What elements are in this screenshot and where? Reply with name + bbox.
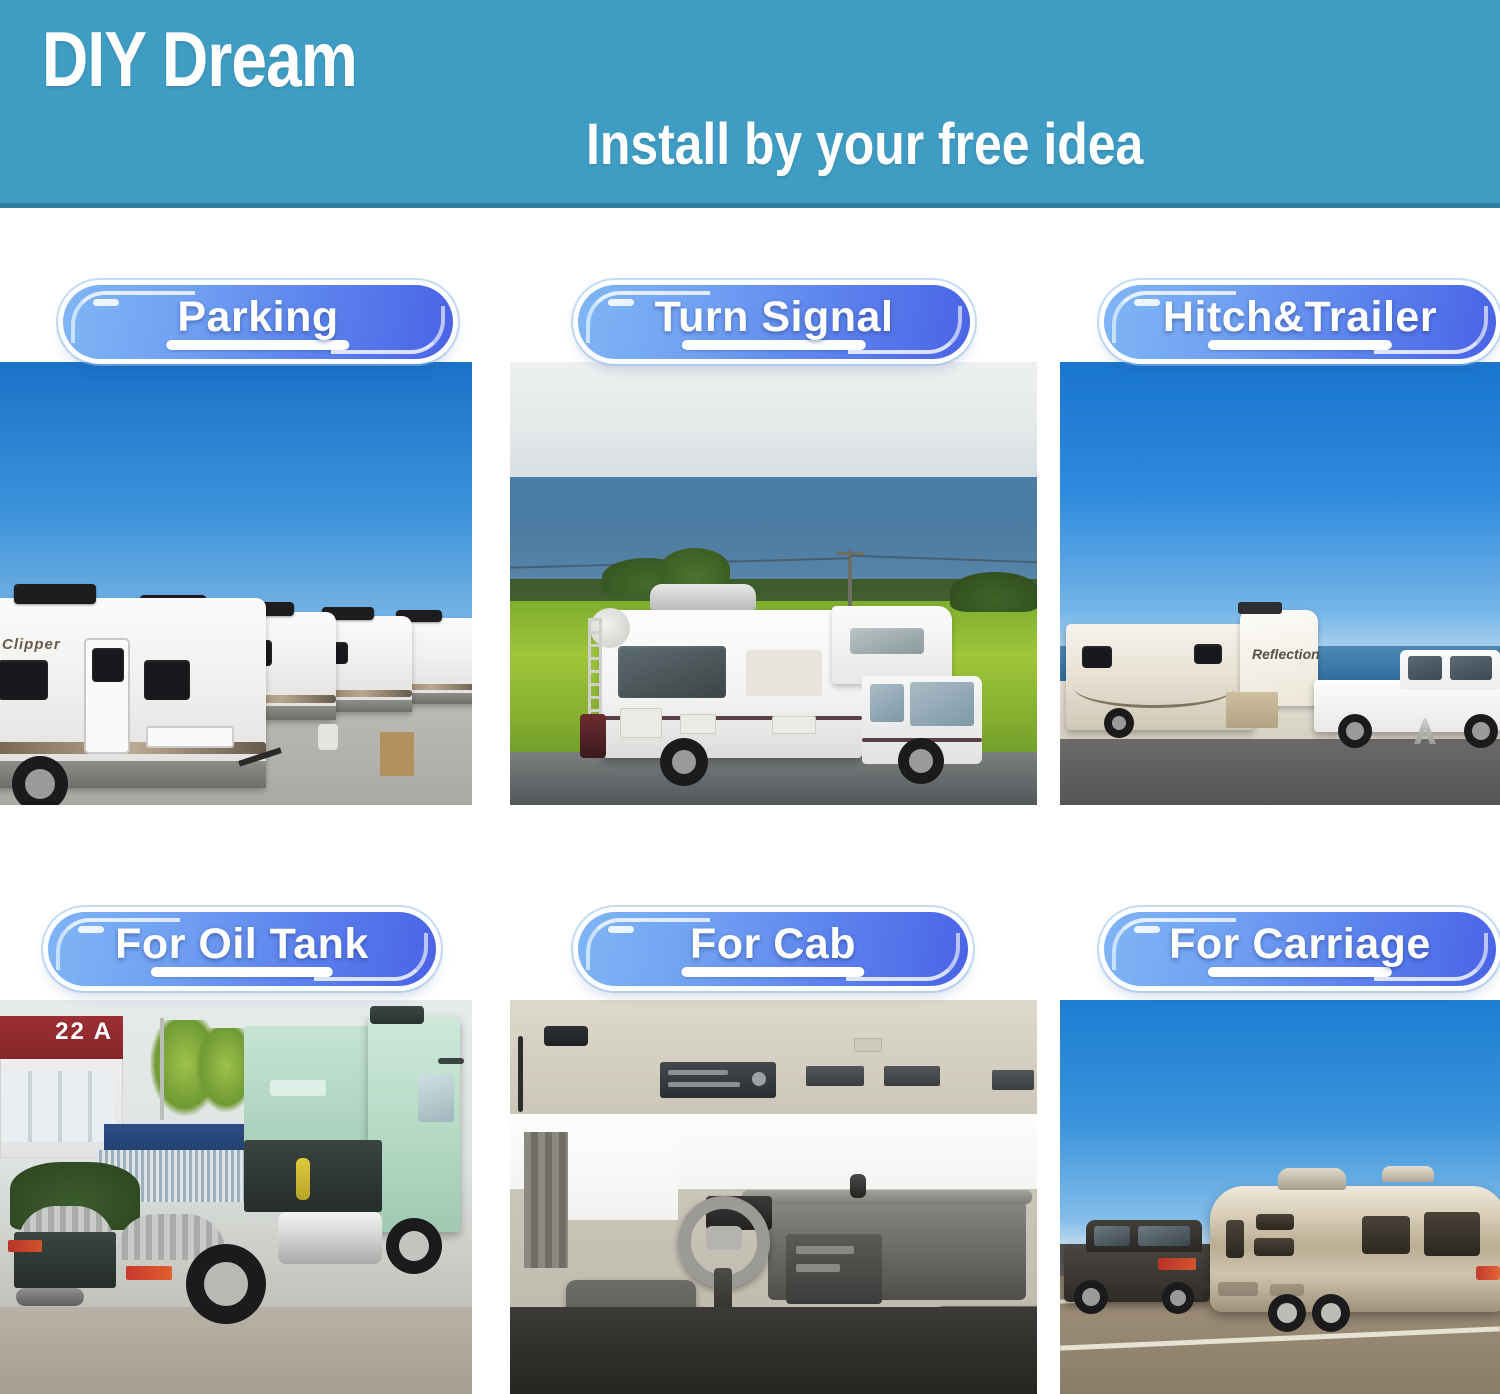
airstream-wheel bbox=[1312, 1294, 1350, 1332]
badge-label: For Carriage bbox=[1169, 920, 1431, 969]
tail-light bbox=[8, 1240, 42, 1252]
airstream-window bbox=[1254, 1238, 1294, 1256]
badge-highlight-dash bbox=[93, 299, 119, 306]
center-console bbox=[786, 1234, 882, 1304]
rooftop-ac-1 bbox=[14, 584, 96, 604]
windshield bbox=[910, 682, 974, 726]
sunvisor bbox=[544, 1026, 588, 1046]
photo-turn-signal bbox=[510, 362, 1037, 805]
badge-cab[interactable]: For Cab bbox=[578, 912, 968, 986]
shrub bbox=[950, 572, 1037, 612]
badge-parking[interactable]: Parking bbox=[63, 285, 453, 359]
badge-underline bbox=[1208, 967, 1392, 977]
badge-label: For Oil Tank bbox=[115, 920, 369, 969]
badge-highlight-dash bbox=[608, 299, 634, 306]
pickup-wheel bbox=[1338, 714, 1372, 748]
motorhome-overcab bbox=[832, 606, 952, 684]
overhead-vent bbox=[992, 1070, 1034, 1090]
badge-underline bbox=[151, 967, 333, 977]
airstream-window bbox=[1256, 1214, 1294, 1230]
photo-carriage bbox=[1060, 1000, 1500, 1394]
camp-chair bbox=[380, 732, 414, 776]
airstream-tail-light bbox=[1476, 1266, 1500, 1280]
rooftop-vent bbox=[1382, 1166, 1434, 1182]
storage-hatch bbox=[772, 716, 816, 734]
trailer-window bbox=[1194, 644, 1222, 664]
cab-window bbox=[418, 1074, 454, 1122]
trailer-brand-text: Clipper bbox=[2, 636, 61, 653]
motorhome-window bbox=[618, 646, 726, 698]
badge-hitch-trailer[interactable]: Hitch&Trailer bbox=[1104, 285, 1496, 359]
badge-underline bbox=[681, 967, 864, 977]
mirror-arm bbox=[438, 1058, 464, 1064]
pickup-cabin bbox=[1400, 650, 1500, 690]
badge-highlight-dash bbox=[1134, 926, 1160, 933]
card-hitch-trailer: Reflection Hitch&Trailer bbox=[1060, 285, 1500, 805]
suv-tail-light bbox=[1158, 1258, 1196, 1270]
pickup-wheel bbox=[1464, 714, 1498, 748]
ocean bbox=[510, 477, 1037, 592]
tail-light bbox=[126, 1266, 172, 1280]
suv-wheel bbox=[1074, 1280, 1108, 1314]
card-parking: Clipper Parking bbox=[0, 285, 472, 805]
photo-hitch-trailer: Reflection bbox=[1060, 362, 1500, 805]
page-title: DIY Dream bbox=[42, 14, 357, 105]
truck-rear-wall bbox=[244, 1026, 374, 1146]
sky bbox=[510, 362, 1037, 477]
photo-parking: Clipper bbox=[0, 362, 472, 805]
card-cab: For Cab bbox=[510, 912, 1037, 1394]
airstream-wheel bbox=[1268, 1294, 1306, 1332]
airstream-window bbox=[1226, 1220, 1244, 1258]
propane-tank bbox=[318, 724, 338, 750]
trailer-window bbox=[144, 660, 190, 700]
overhead-vent bbox=[806, 1066, 864, 1086]
badge-label: Hitch&Trailer bbox=[1163, 293, 1437, 342]
trailer-window bbox=[1082, 646, 1112, 668]
motorhome-body bbox=[602, 610, 862, 758]
asphalt bbox=[1060, 739, 1500, 805]
badge-underline bbox=[166, 340, 349, 350]
trailer-wheel bbox=[12, 756, 68, 805]
badge-highlight-dash bbox=[608, 926, 634, 933]
badge-label: Parking bbox=[177, 293, 338, 342]
exhaust-pipe bbox=[16, 1288, 84, 1306]
motorhome-wheel bbox=[660, 738, 708, 786]
rooftop-ac bbox=[1238, 602, 1282, 614]
bicycle bbox=[580, 714, 606, 758]
cab-floor bbox=[510, 1307, 1037, 1394]
badge-underline bbox=[682, 340, 866, 350]
airstream-window bbox=[1424, 1212, 1480, 1256]
lamp-post bbox=[160, 1018, 164, 1120]
overhead-radio-console bbox=[660, 1062, 776, 1098]
photo-cab bbox=[510, 1000, 1037, 1394]
suv-wheel bbox=[1162, 1282, 1194, 1314]
suv-roof bbox=[1086, 1220, 1202, 1252]
trailer-door bbox=[84, 638, 130, 754]
headliner bbox=[510, 1000, 1037, 1118]
truck-wheel bbox=[386, 1218, 442, 1274]
storage-hatch bbox=[620, 708, 662, 738]
rooftop-ac bbox=[1278, 1168, 1346, 1190]
gear-knob bbox=[850, 1174, 866, 1198]
badge-underline bbox=[1208, 340, 1392, 350]
trailer-wheel bbox=[1104, 708, 1134, 738]
trailer-window bbox=[0, 660, 48, 700]
card-carriage: For Carriage bbox=[1060, 912, 1500, 1394]
motorhome-wheel bbox=[898, 738, 944, 784]
overhead-vent bbox=[884, 1066, 940, 1086]
badge-label: For Cab bbox=[690, 920, 856, 969]
fuel-tank bbox=[278, 1212, 382, 1264]
building-sign-text: 22 A bbox=[55, 1018, 113, 1046]
building-windows bbox=[2, 1071, 115, 1142]
card-turn-signal: Turn Signal bbox=[510, 285, 1037, 805]
chassis-dark-area bbox=[244, 1140, 382, 1212]
building-red-band: 22 A bbox=[0, 1016, 123, 1059]
overhead-latch bbox=[854, 1038, 882, 1052]
landing-gear bbox=[1226, 692, 1278, 728]
storage-hatch bbox=[680, 714, 716, 734]
steering-wheel-hub bbox=[706, 1226, 742, 1250]
cable bbox=[518, 1036, 523, 1112]
airstream-window bbox=[1362, 1216, 1410, 1254]
badge-oil-tank[interactable]: For Oil Tank bbox=[48, 912, 436, 986]
dash-top-rail bbox=[742, 1190, 1032, 1204]
badge-turn-signal[interactable]: Turn Signal bbox=[578, 285, 970, 359]
photo-oil-tank: 22 A bbox=[0, 1000, 472, 1394]
steering-column bbox=[714, 1268, 732, 1312]
badge-carriage[interactable]: For Carriage bbox=[1104, 912, 1496, 986]
side-window bbox=[870, 684, 904, 722]
roof-box bbox=[650, 584, 756, 610]
badge-label: Turn Signal bbox=[655, 293, 894, 342]
card-oil-tank: 22 A bbox=[0, 912, 472, 1394]
overcab-window bbox=[850, 628, 924, 654]
roof-deflector bbox=[370, 1006, 424, 1024]
air-hose bbox=[296, 1158, 310, 1200]
side-window bbox=[566, 1128, 678, 1220]
badge-highlight-dash bbox=[78, 926, 104, 933]
header-banner: DIY Dream Install by your free idea bbox=[0, 0, 1500, 208]
truck-wheel bbox=[186, 1244, 266, 1324]
airstream-body bbox=[1210, 1186, 1500, 1312]
page-subtitle: Install by your free idea bbox=[586, 111, 1143, 178]
cab-curtain bbox=[524, 1132, 568, 1268]
badge-highlight-dash bbox=[1134, 299, 1160, 306]
trailer-brand-text: Reflection bbox=[1252, 646, 1320, 662]
